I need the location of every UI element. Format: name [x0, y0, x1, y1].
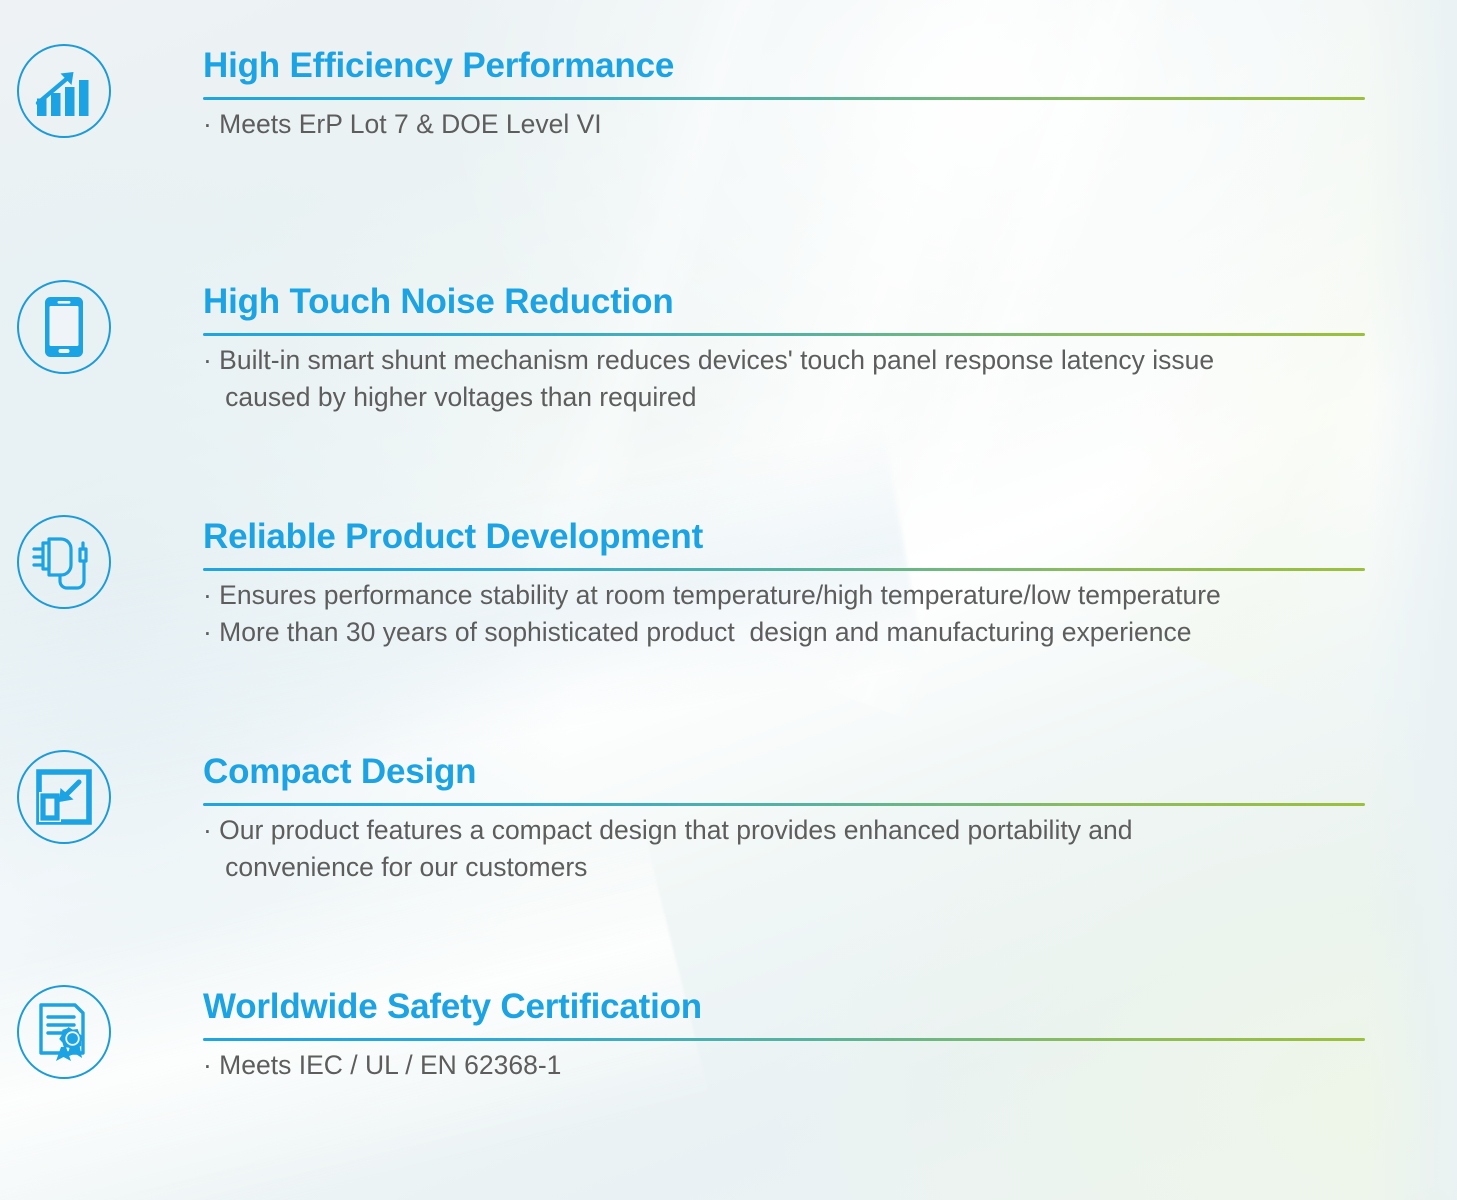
power-adapter-icon	[17, 515, 111, 609]
feature-icon-container	[0, 750, 120, 844]
growth-bar-chart-icon	[17, 44, 111, 138]
feature-row-high-touch-noise-reduction: High Touch Noise Reduction · Built-in sm…	[0, 280, 1457, 416]
feature-title: High Efficiency Performance	[203, 44, 1375, 88]
feature-list: High Efficiency Performance · Meets ErP …	[0, 0, 1457, 1200]
feature-bullet: · Built-in smart shunt mechanism reduces…	[203, 342, 1375, 416]
feature-title: High Touch Noise Reduction	[203, 280, 1375, 324]
feature-row-high-efficiency-performance: High Efficiency Performance · Meets ErP …	[0, 44, 1457, 143]
feature-row-compact-design: Compact Design · Our product features a …	[0, 750, 1457, 886]
feature-bullet-list: · Meets IEC / UL / EN 62368-1	[203, 1047, 1375, 1084]
feature-row-reliable-product-development: Reliable Product Development · Ensures p…	[0, 515, 1457, 651]
feature-divider	[203, 1038, 1365, 1041]
feature-icon-container	[0, 985, 120, 1079]
feature-bullet: · More than 30 years of sophisticated pr…	[203, 614, 1375, 651]
certificate-award-icon	[17, 985, 111, 1079]
feature-bullet: · Meets IEC / UL / EN 62368-1	[203, 1047, 1375, 1084]
feature-title: Reliable Product Development	[203, 515, 1375, 559]
feature-body: High Efficiency Performance · Meets ErP …	[120, 44, 1457, 143]
feature-bullet-list: · Meets ErP Lot 7 & DOE Level VI	[203, 106, 1375, 143]
feature-body: High Touch Noise Reduction · Built-in sm…	[120, 280, 1457, 416]
smartphone-icon	[17, 280, 111, 374]
feature-body: Worldwide Safety Certification · Meets I…	[120, 985, 1457, 1084]
feature-title: Compact Design	[203, 750, 1375, 794]
feature-divider	[203, 333, 1365, 336]
feature-divider	[203, 97, 1365, 100]
feature-bullet: · Our product features a compact design …	[203, 812, 1375, 886]
feature-row-worldwide-safety-certification: Worldwide Safety Certification · Meets I…	[0, 985, 1457, 1084]
feature-body: Reliable Product Development · Ensures p…	[120, 515, 1457, 651]
feature-body: Compact Design · Our product features a …	[120, 750, 1457, 886]
feature-icon-container	[0, 280, 120, 374]
feature-icon-container	[0, 44, 120, 138]
feature-bullet: · Ensures performance stability at room …	[203, 577, 1375, 614]
feature-bullet-list: · Our product features a compact design …	[203, 812, 1375, 886]
feature-icon-container	[0, 515, 120, 609]
feature-divider	[203, 568, 1365, 571]
feature-title: Worldwide Safety Certification	[203, 985, 1375, 1029]
feature-bullet-list: · Built-in smart shunt mechanism reduces…	[203, 342, 1375, 416]
feature-bullet: · Meets ErP Lot 7 & DOE Level VI	[203, 106, 1375, 143]
feature-divider	[203, 803, 1365, 806]
feature-bullet-list: · Ensures performance stability at room …	[203, 577, 1375, 651]
compact-resize-icon	[17, 750, 111, 844]
